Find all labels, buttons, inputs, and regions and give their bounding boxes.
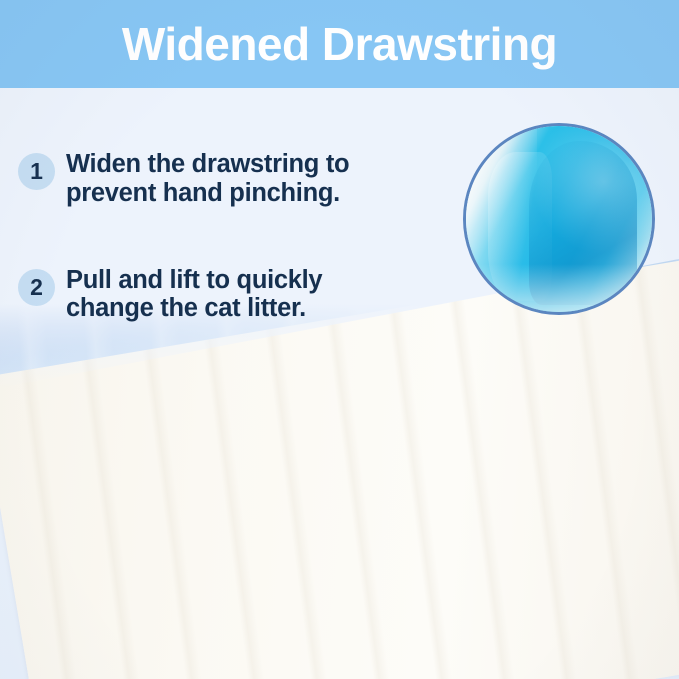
drawstring-closeup-circle — [463, 123, 655, 315]
product-infographic: Widened Drawstring 1 Widen the drawstrin… — [0, 0, 679, 679]
step-number-badge: 1 — [18, 153, 55, 190]
drawstring-closeup-image — [466, 126, 652, 312]
step-number-badge: 2 — [18, 269, 55, 306]
header-banner: Widened Drawstring — [0, 0, 679, 88]
step-description: Widen the drawstring to prevent hand pin… — [66, 150, 406, 208]
closeup-bottom-fade — [466, 264, 652, 315]
instruction-steps: 1 Widen the drawstring to prevent hand p… — [18, 150, 448, 381]
list-item: 2 Pull and lift to quickly change the ca… — [18, 266, 448, 324]
step-description: Pull and lift to quickly change the cat … — [66, 266, 406, 324]
list-item: 1 Widen the drawstring to prevent hand p… — [18, 150, 448, 208]
page-title: Widened Drawstring — [122, 21, 557, 67]
